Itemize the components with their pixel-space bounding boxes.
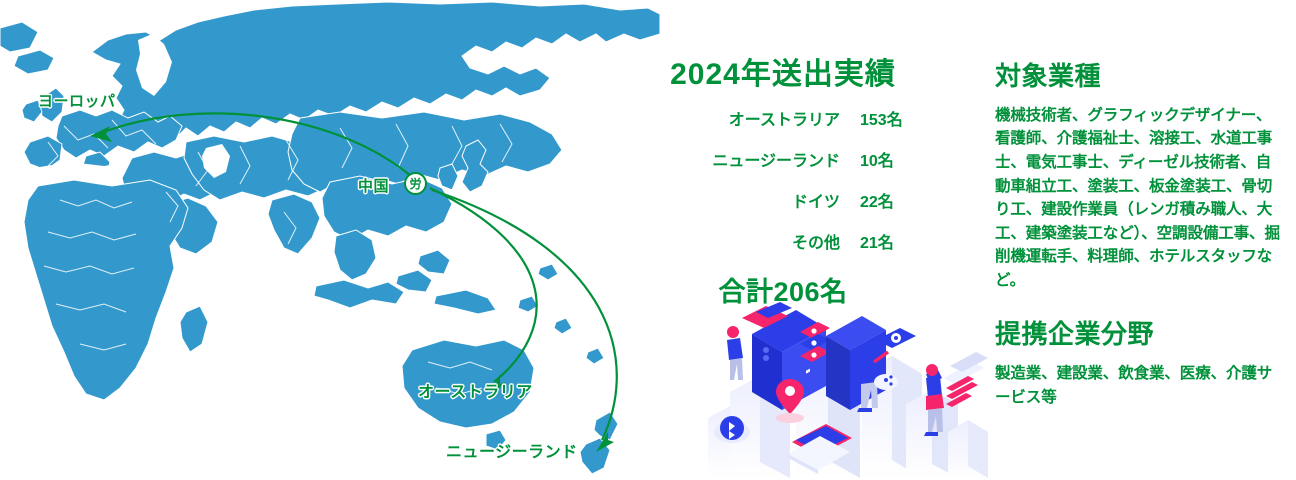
pacific-island-b <box>554 318 572 334</box>
stat-label: ドイツ <box>792 188 840 212</box>
map-label-europe: ヨーロッパ <box>38 90 116 111</box>
stat-label: ニュージーランド <box>712 147 840 171</box>
stat-value: 153名 <box>860 106 918 130</box>
pacific-island-c <box>586 348 604 364</box>
stat-label: その他 <box>792 229 840 253</box>
dispatch-results-panel: 2024年送出実績 オーストラリア 153名 ニュージーランド 10名 ドイツ … <box>648 60 918 309</box>
right-info-column: 対象業種 機械技術者、グラフィックデザイナー、看護師、介護福祉士、溶接工、水道工… <box>995 62 1283 409</box>
origin-badge-icon: 労 <box>404 172 427 195</box>
section-spacer <box>995 292 1283 320</box>
southeast-asia <box>334 230 376 280</box>
stat-value: 21名 <box>860 229 918 253</box>
world-map: ヨーロッパ 中国 労 オーストラリア ニュージーランド <box>0 0 660 480</box>
map-label-australia: オーストラリア <box>418 378 533 402</box>
stat-row: ニュージーランド 10名 <box>648 147 918 171</box>
philippines <box>418 250 450 274</box>
section-body-partner-fields: 製造業、建設業、飲食業、医療、介護サービス等 <box>995 362 1283 409</box>
isometric-illustration <box>700 300 990 480</box>
map-label-china: 中国 <box>358 175 389 196</box>
stat-row: その他 21名 <box>648 229 918 253</box>
landmasses <box>0 0 660 474</box>
share-bubble <box>874 374 898 390</box>
papua-new-guinea <box>434 290 496 314</box>
pacific-island-a <box>518 296 538 312</box>
stats-rows: オーストラリア 153名 ニュージーランド 10名 ドイツ 22名 その他 21… <box>648 106 918 253</box>
stat-row: オーストラリア 153名 <box>648 106 918 130</box>
indonesia <box>314 280 404 308</box>
map-label-newzealand: ニュージーランド <box>446 438 578 462</box>
stats-title: 2024年送出実績 <box>648 60 918 90</box>
borneo <box>396 270 432 292</box>
stat-value: 22名 <box>860 188 918 212</box>
section-body-target-industries: 機械技術者、グラフィックデザイナー、看護師、介護福祉士、溶接工、水道工事士、電気… <box>995 104 1283 292</box>
world-map-svg <box>0 0 660 480</box>
infographic-canvas: ヨーロッパ 中国 労 オーストラリア ニュージーランド 2024年送出実績 オー… <box>0 0 1296 480</box>
isometric-illustration-svg <box>700 300 990 480</box>
stat-value: 10名 <box>860 147 918 171</box>
data-bars <box>944 352 988 407</box>
stat-label: オーストラリア <box>729 106 840 130</box>
pacific-island-d <box>538 264 558 280</box>
stat-row: ドイツ 22名 <box>648 188 918 212</box>
person-standing-left <box>727 326 743 380</box>
location-pin-icon <box>776 379 804 423</box>
section-heading-partner-fields: 提携企業分野 <box>995 320 1283 350</box>
section-heading-target-industries: 対象業種 <box>995 62 1283 92</box>
